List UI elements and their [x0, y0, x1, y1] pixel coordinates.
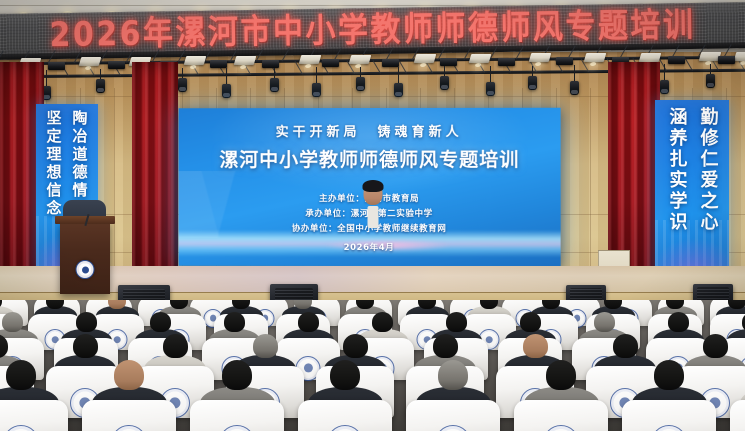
light-hanger [444, 66, 445, 76]
wall-seam [114, 88, 115, 288]
par-light-icon [48, 62, 65, 70]
audience-chair [298, 400, 392, 431]
podium [60, 222, 110, 294]
light-hanger [490, 66, 491, 82]
wash-light-icon [414, 54, 437, 63]
moving-head-light-icon [96, 79, 105, 93]
audience-member-head [654, 360, 684, 390]
audience-member-head [298, 312, 319, 332]
moving-head-light-icon [440, 76, 449, 90]
wash-light-icon [639, 53, 662, 62]
light-hanger [574, 65, 575, 81]
audience-member-head [6, 360, 36, 390]
light-hanger [360, 67, 361, 77]
chair-crest-emblem-icon [111, 425, 147, 431]
audience-member-head [668, 312, 689, 332]
chair-crest-emblem-icon [543, 425, 579, 431]
par-light-icon [718, 56, 735, 64]
moving-head-light-icon [570, 81, 579, 95]
audience-member-head [253, 334, 278, 358]
audience-member-head [163, 334, 188, 358]
moving-head-light-icon [660, 80, 669, 94]
wash-light-icon [79, 57, 102, 66]
audience-member-head [330, 360, 360, 390]
chair-crest-emblem-icon [651, 425, 687, 431]
audience-member-head [594, 312, 615, 332]
light-hanger [710, 64, 711, 74]
side-banner-right: 涵养扎实学识 勤修仁爱之心 [655, 100, 729, 282]
wall-seam [590, 88, 591, 288]
moving-head-light-icon [178, 78, 187, 92]
wash-light-icon [469, 54, 492, 63]
par-light-icon [440, 58, 457, 66]
audience-member-head [523, 334, 548, 358]
screen-headline: 实干开新局 铸魂育新人 [276, 121, 463, 140]
light-hanger [398, 67, 399, 83]
audience-member-head [150, 312, 171, 332]
presenter-hair [362, 180, 383, 192]
moving-head-light-icon [270, 78, 279, 92]
wash-light-icon [584, 53, 607, 62]
par-light-icon [668, 56, 685, 64]
chair-crest-emblem-icon [327, 425, 363, 431]
moving-head-light-icon [222, 84, 231, 98]
light-hanger [226, 68, 227, 84]
light-hanger [532, 66, 533, 76]
light-hanger [664, 64, 665, 80]
wash-light-icon [349, 55, 372, 64]
audience-chair [514, 400, 608, 431]
par-light-icon [262, 60, 279, 68]
audience-member-head [433, 334, 458, 358]
screen-date: 2026年4月 [344, 241, 395, 253]
audience-member-head [613, 334, 638, 358]
audience-member-head [372, 312, 393, 332]
audience-member-head [546, 360, 576, 390]
moving-head-light-icon [486, 82, 495, 96]
light-hanger [182, 68, 183, 78]
auditorium-photo: 2026年漯河市中小学教师师德师风专题培训 坚定理想信念 陶冶道德情操 涵养扎实… [0, 0, 745, 431]
audience-member-head [520, 312, 541, 332]
audience-chair [730, 400, 745, 431]
school-emblem-icon [76, 260, 95, 279]
audience-member-head [224, 312, 245, 332]
audience-chair [82, 400, 176, 431]
light-hanger [46, 70, 47, 86]
audience-chair [0, 400, 68, 431]
par-light-icon [210, 60, 227, 68]
audience-member-head [446, 312, 467, 332]
right-banner-inner-text: 涵养扎实学识 [664, 107, 690, 233]
audience-member-head [114, 360, 144, 390]
presenter-shirt [367, 206, 378, 228]
chair-crest-emblem-icon [219, 425, 255, 431]
par-light-icon [322, 59, 339, 67]
moving-head-light-icon [706, 74, 715, 88]
audience-seating [0, 300, 745, 431]
wash-light-icon [184, 56, 207, 65]
chair-crest-emblem-icon [435, 425, 471, 431]
audience-chair [622, 400, 716, 431]
audience-member-head [73, 334, 98, 358]
audience-member-head [703, 334, 728, 358]
audience-chair [406, 400, 500, 431]
right-banner-outer-text: 勤修仁爱之心 [695, 107, 721, 233]
moving-head-light-icon [394, 83, 403, 97]
light-hanger [100, 69, 101, 79]
wash-light-icon [734, 52, 745, 61]
audience-member-head [76, 312, 97, 332]
moving-head-light-icon [312, 83, 321, 97]
screen-title: 漯河中小学教师师德师风专题培训 [219, 145, 519, 172]
par-light-icon [108, 61, 125, 69]
par-light-icon [382, 59, 399, 67]
par-light-icon [556, 57, 573, 65]
audience-member-head [222, 360, 252, 390]
audience-member-head [2, 312, 23, 332]
left-banner-outer-text: 坚定理想信念 [44, 110, 65, 218]
audience-member-head [438, 360, 468, 390]
moving-head-light-icon [528, 76, 537, 90]
par-light-icon [498, 58, 515, 66]
stage-curtain-left [132, 62, 178, 294]
audience-chair [190, 400, 284, 431]
light-hanger [274, 68, 275, 78]
wash-light-icon [299, 55, 322, 64]
audience-member-head [728, 300, 745, 309]
moving-head-light-icon [356, 77, 365, 91]
wash-light-icon [234, 56, 257, 65]
chair-crest-emblem-icon [3, 425, 39, 431]
light-hanger [316, 67, 317, 83]
wash-light-icon [529, 53, 552, 62]
audience-member-head [343, 334, 368, 358]
